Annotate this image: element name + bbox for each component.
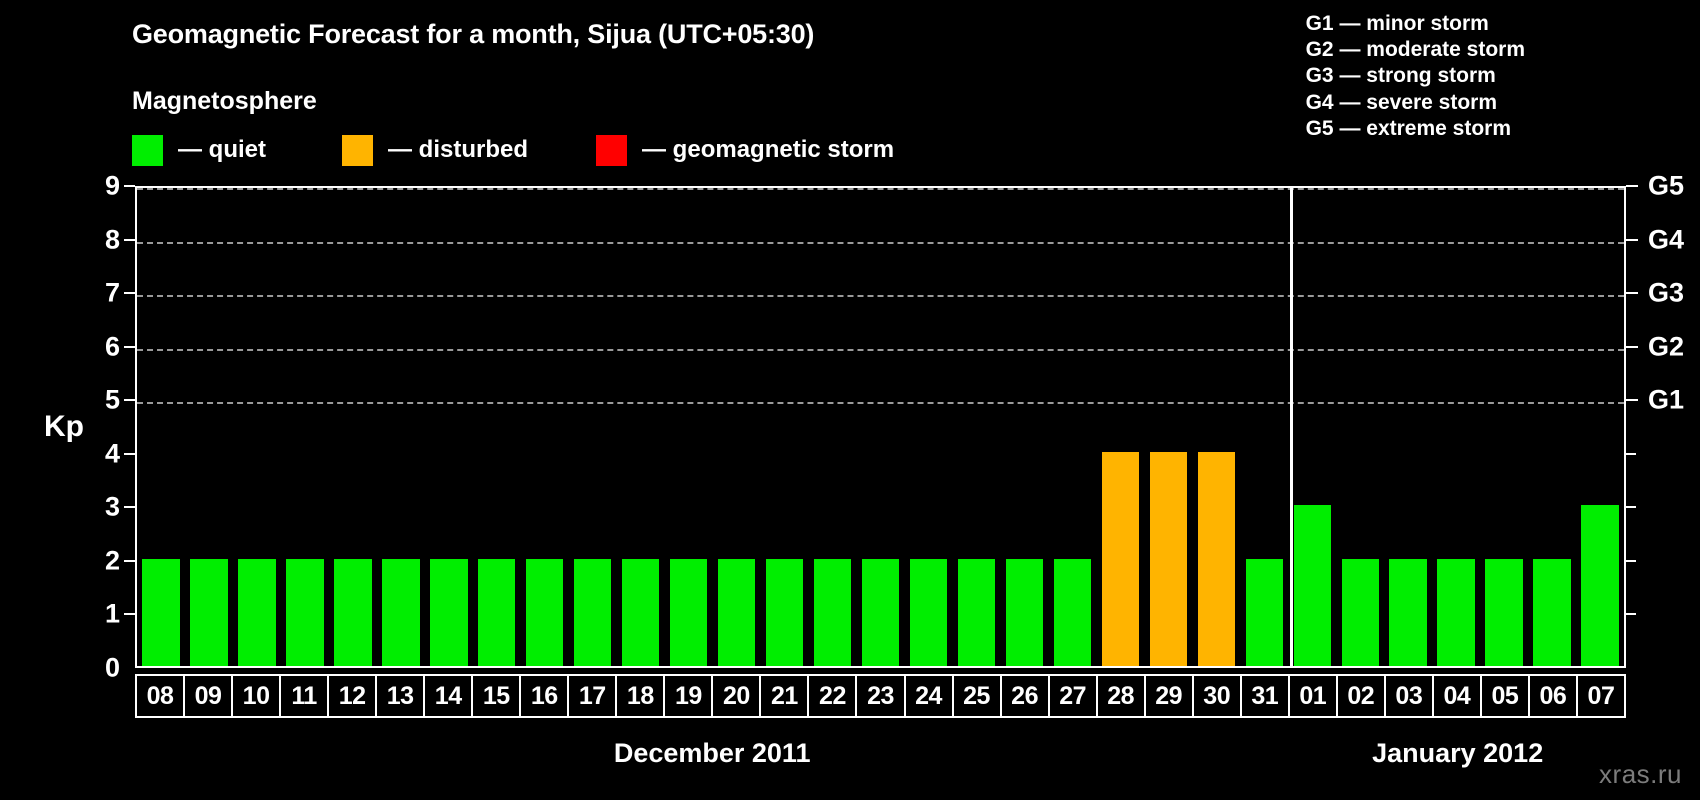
day-label-19[interactable]: 19 — [663, 674, 713, 718]
day-label-12[interactable]: 12 — [327, 674, 377, 718]
bar-cell[interactable] — [809, 188, 857, 666]
bar-25[interactable] — [958, 559, 995, 666]
bar-27[interactable] — [1054, 559, 1091, 666]
bar-19[interactable] — [670, 559, 707, 666]
chart-canvas: Geomagnetic Forecast for a month, Sijua … — [0, 0, 1700, 800]
g-axis-minor-mark-1 — [1626, 613, 1636, 615]
bar-13[interactable] — [382, 559, 419, 666]
day-label-15[interactable]: 15 — [471, 674, 521, 718]
y-tick-9: 9 — [60, 171, 120, 202]
y-tick-mark-6 — [124, 346, 135, 348]
bar-01[interactable] — [1294, 505, 1331, 666]
day-label-26[interactable]: 26 — [1000, 674, 1050, 718]
day-label-01[interactable]: 01 — [1288, 674, 1338, 718]
day-label-13[interactable]: 13 — [375, 674, 425, 718]
day-label-24[interactable]: 24 — [904, 674, 954, 718]
day-label-03[interactable]: 03 — [1384, 674, 1434, 718]
magnetosphere-heading: Magnetosphere — [132, 87, 317, 116]
y-tick-0: 0 — [60, 653, 120, 684]
g-legend-line-g2: G2 — moderate storm — [1306, 37, 1525, 63]
y-tick-mark-7 — [124, 292, 135, 294]
bar-02[interactable] — [1342, 559, 1379, 666]
g-tick-G3: G3 — [1648, 278, 1684, 309]
day-label-20[interactable]: 20 — [711, 674, 761, 718]
bar-cell[interactable] — [233, 188, 281, 666]
bar-15[interactable] — [478, 559, 515, 666]
y-tick-mark-8 — [124, 239, 135, 241]
day-label-31[interactable]: 31 — [1240, 674, 1290, 718]
y-tick-8: 8 — [60, 224, 120, 255]
day-label-25[interactable]: 25 — [952, 674, 1002, 718]
bar-cell[interactable] — [905, 188, 953, 666]
day-label-21[interactable]: 21 — [759, 674, 809, 718]
g-tick-G4: G4 — [1648, 224, 1684, 255]
g-tick-G5: G5 — [1648, 171, 1684, 202]
bar-09[interactable] — [190, 559, 227, 666]
day-label-02[interactable]: 02 — [1336, 674, 1386, 718]
day-label-05[interactable]: 05 — [1480, 674, 1530, 718]
bar-07[interactable] — [1581, 505, 1618, 666]
day-label-28[interactable]: 28 — [1096, 674, 1146, 718]
y-tick-mark-5 — [124, 399, 135, 401]
bar-cell[interactable] — [521, 188, 569, 666]
bar-20[interactable] — [718, 559, 755, 666]
day-label-22[interactable]: 22 — [807, 674, 857, 718]
day-label-07[interactable]: 07 — [1576, 674, 1626, 718]
bar-cell[interactable] — [281, 188, 329, 666]
bar-08[interactable] — [142, 559, 179, 666]
day-label-16[interactable]: 16 — [519, 674, 569, 718]
bar-18[interactable] — [622, 559, 659, 666]
bar-cell[interactable] — [1528, 188, 1576, 666]
bar-cell[interactable] — [1384, 188, 1432, 666]
g-axis-minor-mark-4 — [1626, 453, 1636, 455]
y-tick-mark-9 — [124, 185, 135, 187]
bar-16[interactable] — [526, 559, 563, 666]
magnetosphere-legend: — quiet — disturbed — geomagnetic storm — [132, 133, 894, 167]
bar-cell[interactable] — [1288, 188, 1336, 666]
month-caption-2: January 2012 — [1372, 738, 1543, 769]
bar-cell[interactable] — [1240, 188, 1288, 666]
day-label-06[interactable]: 06 — [1528, 674, 1578, 718]
bar-cell[interactable] — [1000, 188, 1048, 666]
g-legend-line-g1: G1 — minor storm — [1306, 11, 1525, 37]
day-label-14[interactable]: 14 — [423, 674, 473, 718]
g-legend-line-g4: G4 — severe storm — [1306, 90, 1525, 116]
y-tick-7: 7 — [60, 278, 120, 309]
bar-23[interactable] — [862, 559, 899, 666]
g-tick-mark-G4 — [1626, 239, 1638, 241]
legend-item-quiet: — quiet — [132, 135, 266, 166]
day-label-11[interactable]: 11 — [279, 674, 329, 718]
bar-05[interactable] — [1485, 559, 1522, 666]
day-label-04[interactable]: 04 — [1432, 674, 1482, 718]
legend-label-disturbed: — disturbed — [388, 136, 528, 164]
day-label-18[interactable]: 18 — [615, 674, 665, 718]
day-label-27[interactable]: 27 — [1048, 674, 1098, 718]
day-label-23[interactable]: 23 — [855, 674, 905, 718]
day-label-08[interactable]: 08 — [135, 674, 185, 718]
bar-cell[interactable] — [1096, 188, 1144, 666]
y-tick-mark-4 — [124, 453, 135, 455]
bar-cell[interactable] — [761, 188, 809, 666]
bar-cell[interactable] — [665, 188, 713, 666]
bar-03[interactable] — [1389, 559, 1426, 666]
y-tick-5: 5 — [60, 385, 120, 416]
y-tick-1: 1 — [60, 599, 120, 630]
bar-12[interactable] — [334, 559, 371, 666]
bar-cell[interactable] — [1336, 188, 1384, 666]
y-tick-2: 2 — [60, 545, 120, 576]
bar-series — [137, 188, 1624, 666]
legend-swatch-quiet — [132, 135, 163, 166]
bar-22[interactable] — [814, 559, 851, 666]
legend-label-quiet: — quiet — [178, 136, 266, 164]
day-label-09[interactable]: 09 — [183, 674, 233, 718]
bar-cell[interactable] — [1192, 188, 1240, 666]
bar-14[interactable] — [430, 559, 467, 666]
g-tick-mark-G5 — [1626, 185, 1638, 187]
bar-cell[interactable] — [713, 188, 761, 666]
bar-06[interactable] — [1533, 559, 1570, 666]
g-tick-mark-G2 — [1626, 346, 1638, 348]
bar-cell[interactable] — [329, 188, 377, 666]
bar-10[interactable] — [238, 559, 275, 666]
bar-30[interactable] — [1198, 452, 1235, 666]
bar-cell[interactable] — [1144, 188, 1192, 666]
g-tick-mark-G1 — [1626, 399, 1638, 401]
bar-cell[interactable] — [137, 188, 185, 666]
day-label-30[interactable]: 30 — [1192, 674, 1242, 718]
watermark: xras.ru — [1599, 759, 1682, 790]
day-label-10[interactable]: 10 — [231, 674, 281, 718]
g-legend-line-g3: G3 — strong storm — [1306, 63, 1525, 89]
y-tick-6: 6 — [60, 331, 120, 362]
bar-28[interactable] — [1102, 452, 1139, 666]
g-tick-mark-G3 — [1626, 292, 1638, 294]
bar-cell[interactable] — [185, 188, 233, 666]
g-scale-legend: G1 — minor storm G2 — moderate storm G3 … — [1306, 11, 1525, 142]
month-divider — [1290, 188, 1293, 666]
page-title: Geomagnetic Forecast for a month, Sijua … — [132, 19, 814, 50]
bar-17[interactable] — [574, 559, 611, 666]
bar-cell[interactable] — [617, 188, 665, 666]
g-axis-minor-mark-2 — [1626, 560, 1636, 562]
g-axis-minor-mark-3 — [1626, 506, 1636, 508]
y-tick-mark-3 — [124, 506, 135, 508]
y-tick-mark-1 — [124, 613, 135, 615]
bar-29[interactable] — [1150, 452, 1187, 666]
bar-cell[interactable] — [952, 188, 1000, 666]
y-tick-mark-2 — [124, 560, 135, 562]
g-tick-G2: G2 — [1648, 331, 1684, 362]
bar-26[interactable] — [1006, 559, 1043, 666]
y-tick-4: 4 — [60, 438, 120, 469]
bar-21[interactable] — [766, 559, 803, 666]
bar-cell[interactable] — [1432, 188, 1480, 666]
bar-cell[interactable] — [857, 188, 905, 666]
legend-item-storm: — geomagnetic storm — [596, 135, 894, 166]
legend-label-storm: — geomagnetic storm — [642, 136, 894, 164]
bar-cell[interactable] — [425, 188, 473, 666]
bar-11[interactable] — [286, 559, 323, 666]
day-label-29[interactable]: 29 — [1144, 674, 1194, 718]
bar-04[interactable] — [1437, 559, 1474, 666]
y-tick-3: 3 — [60, 492, 120, 523]
g-tick-G1: G1 — [1648, 385, 1684, 416]
bar-cell[interactable] — [473, 188, 521, 666]
day-label-17[interactable]: 17 — [567, 674, 617, 718]
bar-31[interactable] — [1246, 559, 1283, 666]
legend-swatch-disturbed — [342, 135, 373, 166]
legend-swatch-storm — [596, 135, 627, 166]
bar-cell[interactable] — [1480, 188, 1528, 666]
bar-cell[interactable] — [569, 188, 617, 666]
bar-cell[interactable] — [377, 188, 425, 666]
g-legend-line-g5: G5 — extreme storm — [1306, 116, 1525, 142]
bar-cell[interactable] — [1576, 188, 1624, 666]
plot-area — [135, 186, 1626, 668]
x-axis-day-labels: 0809101112131415161718192021222324252627… — [135, 674, 1626, 718]
legend-item-disturbed: — disturbed — [342, 135, 528, 166]
bar-24[interactable] — [910, 559, 947, 666]
bar-cell[interactable] — [1048, 188, 1096, 666]
month-caption-1: December 2011 — [614, 738, 811, 769]
